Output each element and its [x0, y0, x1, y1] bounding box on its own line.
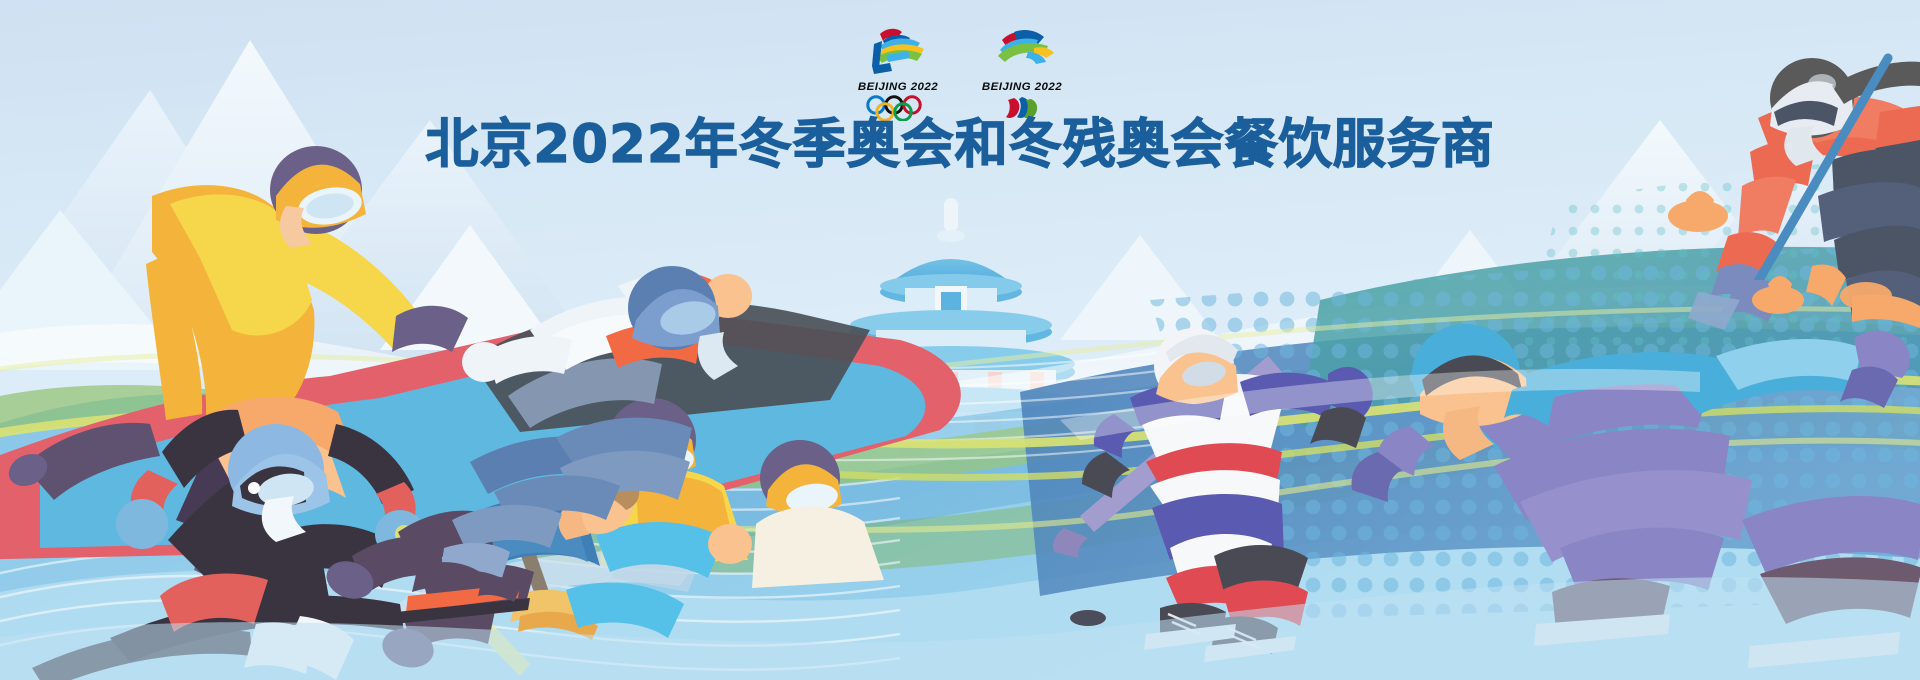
- paralympic-wordmark: BEIJING 2022: [972, 81, 1073, 93]
- beijing-2022-olympic-emblem[interactable]: BEIJING 2022: [850, 22, 946, 121]
- winter-olympics-banner: BEIJING 2022: [0, 0, 1920, 680]
- olympic-rings-icon: [850, 95, 946, 121]
- agitos-icon: [974, 95, 1070, 121]
- beijing-2022-paralympic-emblem[interactable]: BEIJING 2022: [974, 22, 1070, 121]
- olympic-emblem-icon: [850, 22, 946, 82]
- olympic-wordmark: BEIJING 2022: [848, 81, 949, 93]
- emblem-row: BEIJING 2022: [0, 22, 1920, 121]
- paralympic-emblem-icon: [974, 22, 1070, 82]
